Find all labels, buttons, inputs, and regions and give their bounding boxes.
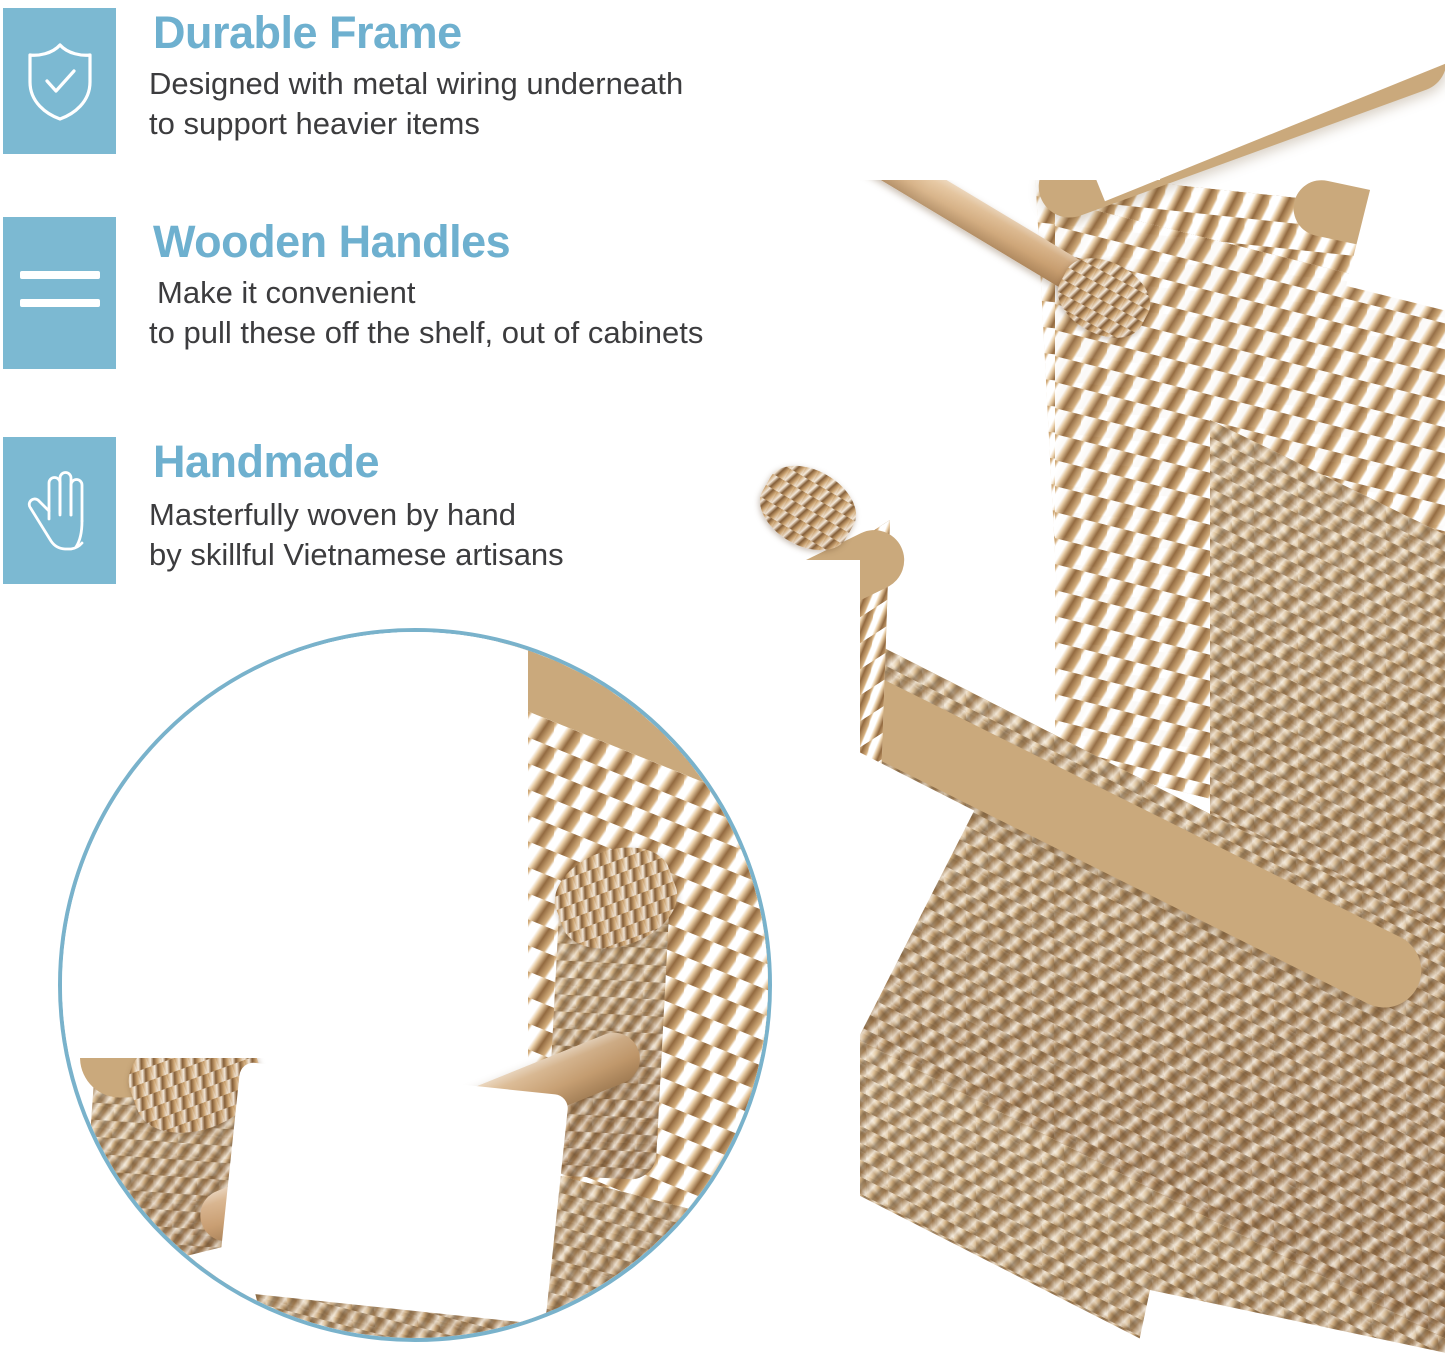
feature-text-block: Durable Frame Designed with metal wiring… — [149, 8, 789, 144]
feature-text-block: Wooden Handles Make it convenient to pul… — [149, 217, 789, 353]
feature-body: Masterfully woven by hand by skillful Vi… — [149, 495, 789, 575]
callout-contents — [58, 628, 772, 1342]
feature-body-line-1: Make it convenient — [157, 273, 789, 313]
feature-title: Handmade — [153, 437, 789, 487]
feature-body-line-2: by skillful Vietnamese artisans — [149, 535, 789, 575]
feature-title: Durable Frame — [153, 8, 789, 58]
feature-body-line-1: Designed with metal wiring underneath — [149, 64, 789, 104]
feature-body: Designed with metal wiring underneath to… — [149, 64, 789, 144]
open-hand-icon — [25, 467, 97, 553]
feature-body-line-1: Masterfully woven by hand — [149, 495, 789, 535]
feature-text-block: Handmade Masterfully woven by hand by sk… — [149, 437, 789, 575]
open-hand-icon-tile — [3, 437, 116, 584]
two-bars-icon-tile — [3, 217, 116, 369]
shield-check-icon — [24, 40, 96, 122]
feature-title: Wooden Handles — [153, 217, 789, 267]
feature-body-line-2: to support heavier items — [149, 104, 789, 144]
handle-detail-callout — [58, 628, 772, 1342]
feature-body: Make it convenient to pull these off the… — [149, 273, 789, 353]
two-bars-icon — [20, 269, 100, 315]
callout-mask-handle-gap — [217, 1061, 569, 1324]
shield-check-icon-tile — [3, 8, 116, 154]
callout-mask-topleft — [58, 628, 528, 1058]
feature-body-line-2: to pull these off the shelf, out of cabi… — [149, 313, 789, 353]
